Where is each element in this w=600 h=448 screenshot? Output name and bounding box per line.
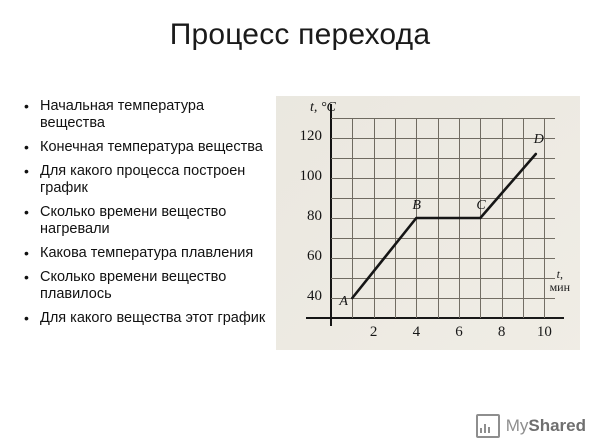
page-title: Процесс перехода xyxy=(0,18,600,52)
bullet-marker: • xyxy=(24,139,29,156)
list-item: • Сколько времени вещество нагревали xyxy=(18,204,266,238)
list-item: • Конечная температура вещества xyxy=(18,139,266,156)
list-item-label: Для какого вещества этот график xyxy=(40,310,265,326)
bullet-marker: • xyxy=(24,204,29,221)
list-item: • Сколько времени вещество плавилось xyxy=(18,269,266,303)
list-item-label: Начальная температура вещества xyxy=(40,98,204,131)
list-item-label: Конечная температура вещества xyxy=(40,139,263,155)
list-item-label: Какова температура плавления xyxy=(40,245,253,261)
bullet-marker: • xyxy=(24,310,29,327)
mysharedlogo: MyShared xyxy=(476,414,586,438)
slide: Процесс перехода • Начальная температура… xyxy=(0,0,600,448)
logo-shared: Shared xyxy=(528,416,586,435)
list-item-label: Сколько времени вещество нагревали xyxy=(40,204,226,237)
list-item: • Для какого вещества этот график xyxy=(18,310,266,327)
list-item-label: Сколько времени вещество плавилось xyxy=(40,269,226,302)
logo-text: MyShared xyxy=(506,416,586,436)
list-item: • Для какого процесса построен график xyxy=(18,163,266,197)
bullet-marker: • xyxy=(24,245,29,262)
temperature-time-chart: t, °C 406080100120 246810 t,мин ABCD xyxy=(276,96,580,350)
list-item: • Какова температура плавления xyxy=(18,245,266,262)
bullet-marker: • xyxy=(24,98,29,115)
list-item: • Начальная температура вещества xyxy=(18,98,266,132)
bullet-marker: • xyxy=(24,269,29,286)
bullet-list: • Начальная температура вещества • Конеч… xyxy=(18,98,266,334)
data-line xyxy=(276,96,580,350)
bar-chart-icon xyxy=(476,414,500,438)
bullet-marker: • xyxy=(24,163,29,180)
list-item-label: Для какого процесса построен график xyxy=(40,163,245,196)
logo-my: My xyxy=(506,416,529,435)
